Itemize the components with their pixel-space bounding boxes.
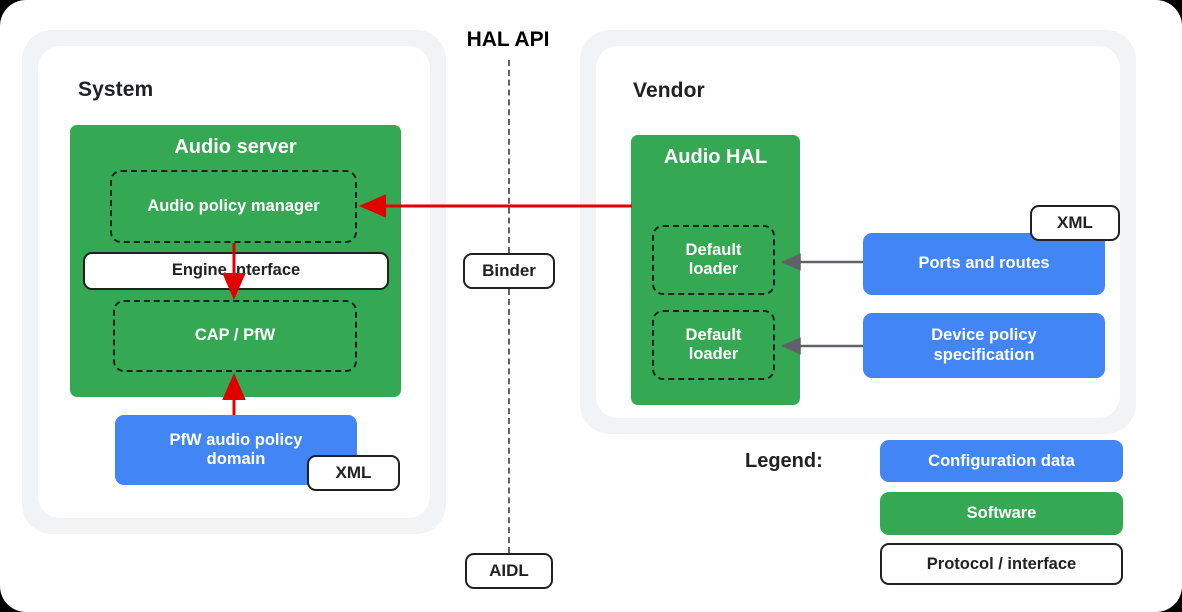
legend-item-configuration-data: Configuration data	[880, 440, 1123, 482]
audio-server-title: Audio server	[70, 136, 401, 159]
aidl-pill: AIDL	[465, 553, 553, 589]
audio-policy-manager-block: Audio policy manager	[110, 170, 357, 243]
pfw-xml-tag: XML	[307, 455, 400, 491]
legend-item-label: Protocol / interface	[927, 555, 1076, 574]
hal-api-label: HAL API	[428, 28, 588, 56]
device-policy-specification-block: Device policy specification	[863, 313, 1105, 378]
vendor-title: Vendor	[633, 79, 833, 107]
legend-item-protocol-interface: Protocol / interface	[880, 543, 1123, 585]
vendor-xml-tag: XML	[1030, 205, 1120, 241]
binder-pill: Binder	[463, 253, 555, 289]
default-loader-block-1: Default loader	[652, 225, 775, 295]
diagram-canvas: System Audio server Audio policy manager…	[0, 0, 1182, 612]
ports-and-routes-block: Ports and routes	[863, 233, 1105, 295]
cap-pfw-block: CAP / PfW	[113, 300, 357, 372]
default-loader-block-2: Default loader	[652, 310, 775, 380]
hal-api-divider-mid	[508, 289, 510, 553]
engine-interface-pill: Engine interface	[83, 252, 389, 290]
legend-item-software: Software	[880, 492, 1123, 535]
system-title: System	[78, 78, 278, 106]
hal-api-divider	[508, 60, 510, 253]
legend-item-label: Configuration data	[928, 452, 1075, 471]
legend-label: Legend:	[745, 450, 885, 478]
legend-item-label: Software	[967, 504, 1037, 523]
audio-hal-title: Audio HAL	[631, 146, 800, 169]
